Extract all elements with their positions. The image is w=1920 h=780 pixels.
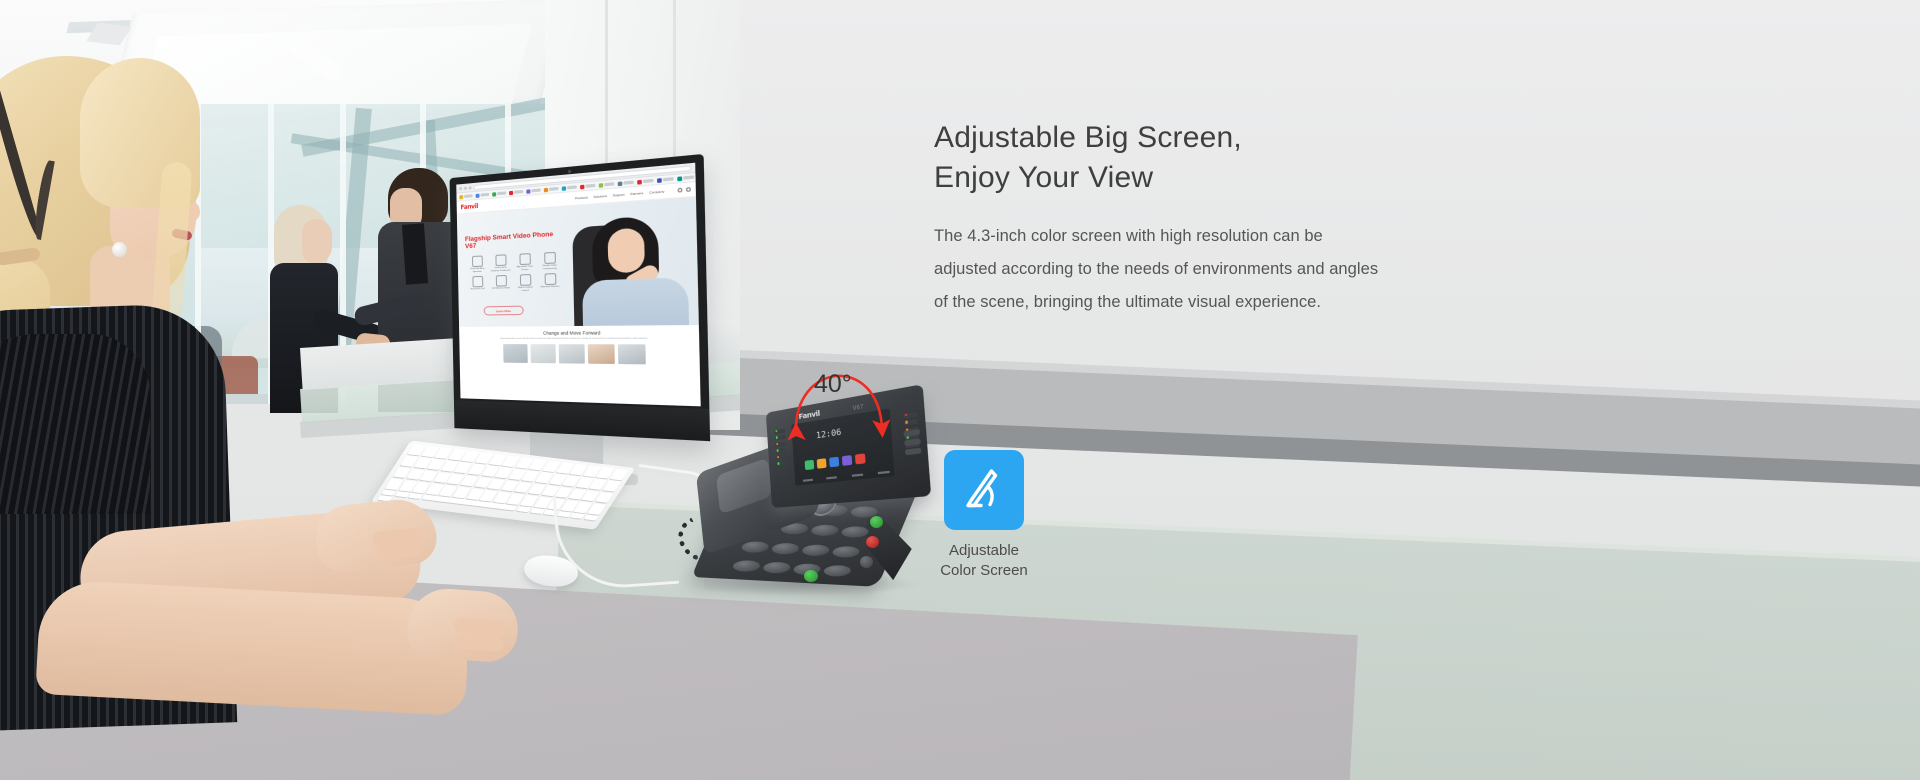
monitor-bezel: Fanvil Products Solutions Support Partne… <box>450 154 711 441</box>
section-subtitle: Fanvil provides users with the latest co… <box>465 338 692 341</box>
hero-photo-woman <box>574 201 699 327</box>
app-icon[interactable] <box>805 460 815 470</box>
back-icon[interactable] <box>459 187 462 190</box>
bookmark-item[interactable] <box>562 185 577 191</box>
hand-on-mouse <box>406 586 521 664</box>
hero-feature: Professional Software Production <box>490 254 510 272</box>
section-thumbnails <box>465 344 692 365</box>
foreground-woman <box>0 50 290 780</box>
forward-icon[interactable] <box>464 186 467 189</box>
earring <box>112 242 127 257</box>
feature-badge: Adjustable Color Screen <box>934 450 1034 582</box>
fanvil-logo[interactable]: Fanvil <box>460 202 478 210</box>
feature-caption: Adjustable Color Screen <box>934 541 1034 582</box>
nav-link[interactable]: Company <box>649 189 664 195</box>
learn-more-button[interactable]: Learn More <box>484 306 524 316</box>
feature-icon <box>544 273 556 285</box>
bookmark-item[interactable] <box>544 186 559 191</box>
speaker-button[interactable] <box>804 570 818 582</box>
feature-icon <box>519 274 530 286</box>
headline-line-1: Adjustable Big Screen, <box>934 121 1242 154</box>
monitor-screen: Fanvil Products Solutions Support Partne… <box>456 163 700 407</box>
feature-icon <box>544 252 556 264</box>
dss-key[interactable] <box>776 455 787 460</box>
feature-icon <box>495 275 506 287</box>
bookmark-item[interactable] <box>526 188 541 193</box>
site-section-two: Change and Move Forward Fanvil provides … <box>459 325 700 371</box>
feature-icon <box>495 254 506 266</box>
hero-feature: Strong HD Call <box>468 276 488 294</box>
feature-icon <box>472 276 483 288</box>
keypad-key[interactable] <box>809 524 840 536</box>
thumbnail[interactable] <box>588 344 615 364</box>
nav-link[interactable]: Partners <box>630 191 643 196</box>
keypad-key[interactable] <box>761 562 792 574</box>
hand-on-keyboard <box>313 496 439 574</box>
answer-call-button[interactable] <box>870 516 883 528</box>
hero-feature: Cloud Handling Operation <box>467 255 487 273</box>
app-icon[interactable] <box>842 455 852 466</box>
end-call-button[interactable] <box>866 536 879 548</box>
app-icon[interactable] <box>817 458 827 469</box>
keypad-key[interactable] <box>770 542 801 554</box>
hero-feature: Bluetooth Wireless <box>539 273 560 292</box>
adjustable-screen-icon <box>944 450 1024 530</box>
page-title: Adjustable Big Screen, Enjoy Your View <box>934 118 1474 198</box>
function-button[interactable] <box>860 556 873 568</box>
bookmark-item[interactable] <box>657 177 674 183</box>
hero-feature-grid: Cloud Handling Operation Professional So… <box>467 252 561 294</box>
lcd-softkey-labels <box>803 471 890 482</box>
hero-title: Flagship Smart Video Phone V67 <box>465 230 562 250</box>
webcam-icon <box>568 170 571 174</box>
bookmark-item[interactable] <box>459 194 472 199</box>
keypad-key[interactable] <box>800 544 831 556</box>
nav-link[interactable]: Support <box>613 192 625 197</box>
nav-link[interactable]: Products <box>575 195 588 200</box>
tilt-angle-annotation: 40° <box>770 340 910 450</box>
hero-banner: Fanvil Products Solutions Support Partne… <box>0 0 1920 780</box>
lcd-app-icons[interactable] <box>805 453 866 470</box>
angle-value-label: 40° <box>814 370 852 399</box>
site-nav-links[interactable]: Products Solutions Support Partners Comp… <box>575 189 664 200</box>
thumbnail[interactable] <box>503 344 528 363</box>
keypad-key[interactable] <box>740 540 771 552</box>
body-paragraph: The 4.3-inch color screen with high reso… <box>934 220 1379 319</box>
copy-block: Adjustable Big Screen, Enjoy Your View T… <box>934 118 1474 319</box>
bookmark-item[interactable] <box>599 182 615 188</box>
shoulder <box>0 334 150 514</box>
app-icon[interactable] <box>855 453 866 464</box>
site-hero-section: Flagship Smart Video Phone V67 Cloud Han… <box>457 197 699 327</box>
feature-icon <box>519 253 530 265</box>
keypad-key[interactable] <box>831 545 862 557</box>
office-photo-scene: Fanvil Products Solutions Support Partne… <box>0 0 740 780</box>
keypad-key[interactable] <box>731 560 762 572</box>
thumbnail[interactable] <box>618 344 646 364</box>
reload-icon[interactable] <box>469 186 472 189</box>
nav-icons[interactable] <box>678 187 691 193</box>
bookmark-item[interactable] <box>637 178 653 184</box>
headline-line-2: Enjoy Your View <box>934 161 1153 194</box>
bookmark-item[interactable] <box>618 180 634 186</box>
bookmark-item[interactable] <box>677 175 694 181</box>
bookmark-item[interactable] <box>509 189 523 194</box>
keypad-key[interactable] <box>822 565 853 577</box>
app-icon[interactable] <box>829 457 839 468</box>
nav-link[interactable]: Solutions <box>593 194 607 199</box>
dss-key[interactable] <box>777 461 788 466</box>
bookmark-item[interactable] <box>492 191 506 196</box>
hero-feature: Flexible Video Conferencing <box>539 252 560 271</box>
hero-feature: Built-in Unified Launch <box>515 274 536 292</box>
desktop-monitor: Fanvil Products Solutions Support Partne… <box>452 178 692 478</box>
section-title: Change and Move Forward <box>465 330 692 336</box>
arm <box>35 579 470 716</box>
globe-icon[interactable] <box>686 187 691 192</box>
thumbnail[interactable] <box>559 344 585 363</box>
search-icon[interactable] <box>678 188 683 193</box>
browser-window: Fanvil Products Solutions Support Partne… <box>456 163 700 407</box>
hero-feature: 5G Wireless Mode <box>491 275 511 293</box>
hero-feature: Adjustable Color Screen <box>514 253 535 272</box>
feature-icon <box>472 256 483 268</box>
bookmark-item[interactable] <box>580 183 595 189</box>
adjustable-screen-glyph <box>957 463 1011 517</box>
thumbnail[interactable] <box>530 344 555 363</box>
bookmark-item[interactable] <box>476 192 490 197</box>
keypad-key[interactable] <box>840 526 871 538</box>
